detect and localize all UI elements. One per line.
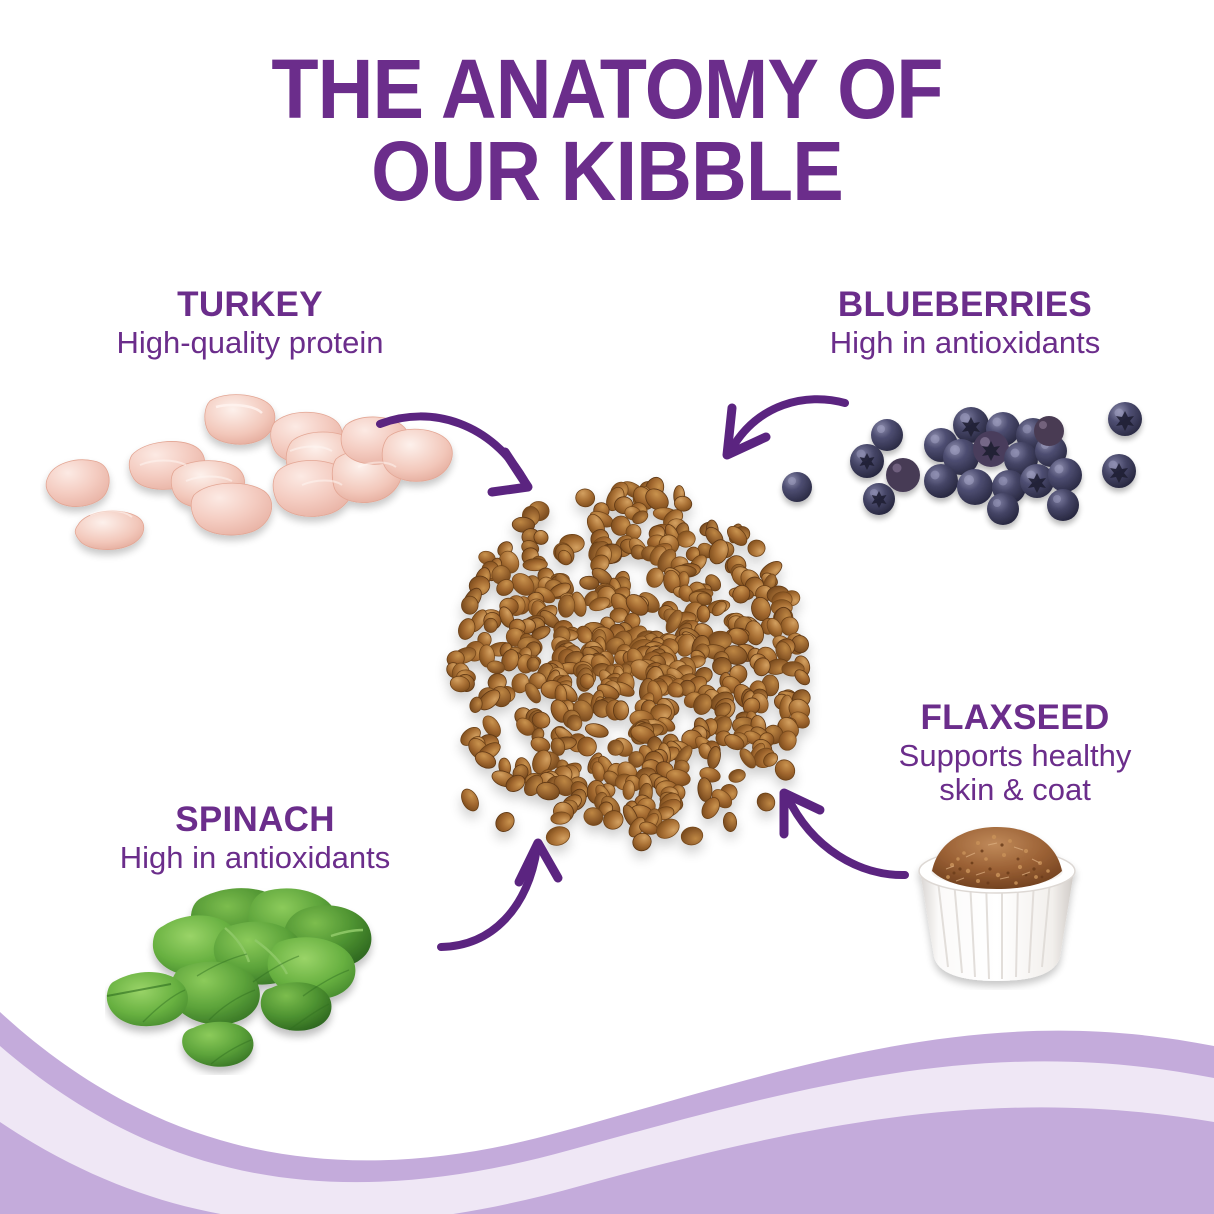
- callout-flaxseed-heading: FLAXSEED: [850, 700, 1180, 737]
- callout-turkey: TURKEY High-quality protein: [50, 287, 450, 360]
- kibble-pile-image: [430, 470, 830, 870]
- turkey-chunks-image: [40, 385, 470, 570]
- turkey-pieces-group: [46, 395, 452, 550]
- ramekin-group: [919, 827, 1075, 981]
- callout-spinach-heading: SPINACH: [55, 802, 455, 839]
- callout-spinach: SPINACH High in antioxidants: [55, 802, 455, 875]
- spinach-leaves-image: [105, 880, 405, 1075]
- blueberries-image: [775, 395, 1175, 530]
- kibble-group: [444, 475, 814, 854]
- callout-spinach-subtext: High in antioxidants: [55, 841, 455, 876]
- callout-turkey-subtext: High-quality protein: [50, 326, 450, 361]
- spinach-group: [107, 888, 372, 1067]
- callout-blueberries-subtext: High in antioxidants: [760, 326, 1170, 361]
- page-title: THE ANATOMY OF OUR KIBBLE: [49, 48, 1166, 213]
- callout-turkey-heading: TURKEY: [50, 287, 450, 324]
- callout-flaxseed-subtext: Supports healthy skin & coat: [850, 739, 1180, 808]
- callout-blueberries: BLUEBERRIES High in antioxidants: [760, 287, 1170, 360]
- blueberries-group: [782, 402, 1142, 525]
- infographic-canvas: THE ANATOMY OF OUR KIBBLE TURKEY High-qu…: [0, 0, 1214, 1214]
- callout-flaxseed: FLAXSEED Supports healthy skin & coat: [850, 700, 1180, 808]
- flaxseed-bowl-image: [890, 825, 1105, 990]
- callout-blueberries-heading: BLUEBERRIES: [760, 287, 1170, 324]
